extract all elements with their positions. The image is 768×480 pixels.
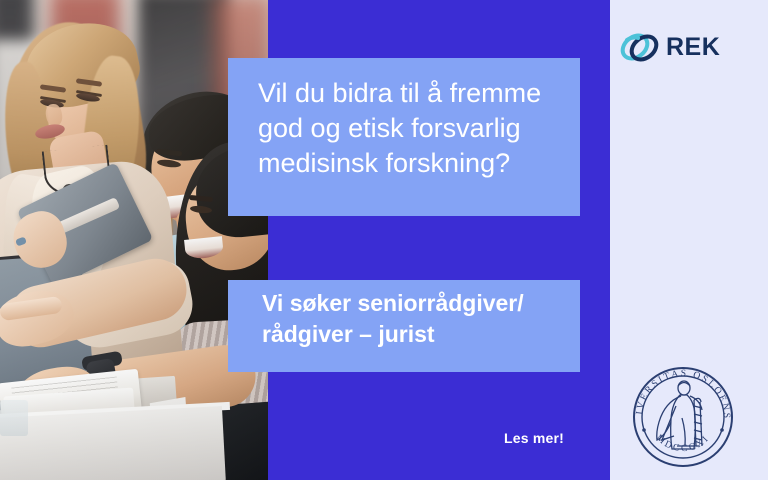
read-more-link[interactable]: Les mer!	[504, 430, 564, 446]
right-logo-panel: REK UNIVERSITAS OSLOENSIS MDCCCXI	[610, 0, 768, 480]
uio-seal-svg: UNIVERSITAS OSLOENSIS MDCCCXI	[624, 358, 742, 476]
recruitment-banner: REK UNIVERSITAS OSLOENSIS MDCCCXI	[0, 0, 768, 480]
photo-desk-surface	[0, 406, 226, 480]
rek-rings-icon	[618, 25, 662, 69]
rek-wordmark: REK	[666, 35, 720, 60]
photo-glass	[0, 400, 28, 436]
rek-logo: REK	[618, 24, 760, 70]
role-text: Vi søker seniorrådgiver/ rådgiver – juri…	[262, 288, 572, 350]
headline-text: Vil du bidra til å fremme god og etisk f…	[258, 76, 570, 181]
uio-seal: UNIVERSITAS OSLOENSIS MDCCCXI	[624, 358, 742, 476]
rek-rings-svg	[618, 25, 662, 69]
